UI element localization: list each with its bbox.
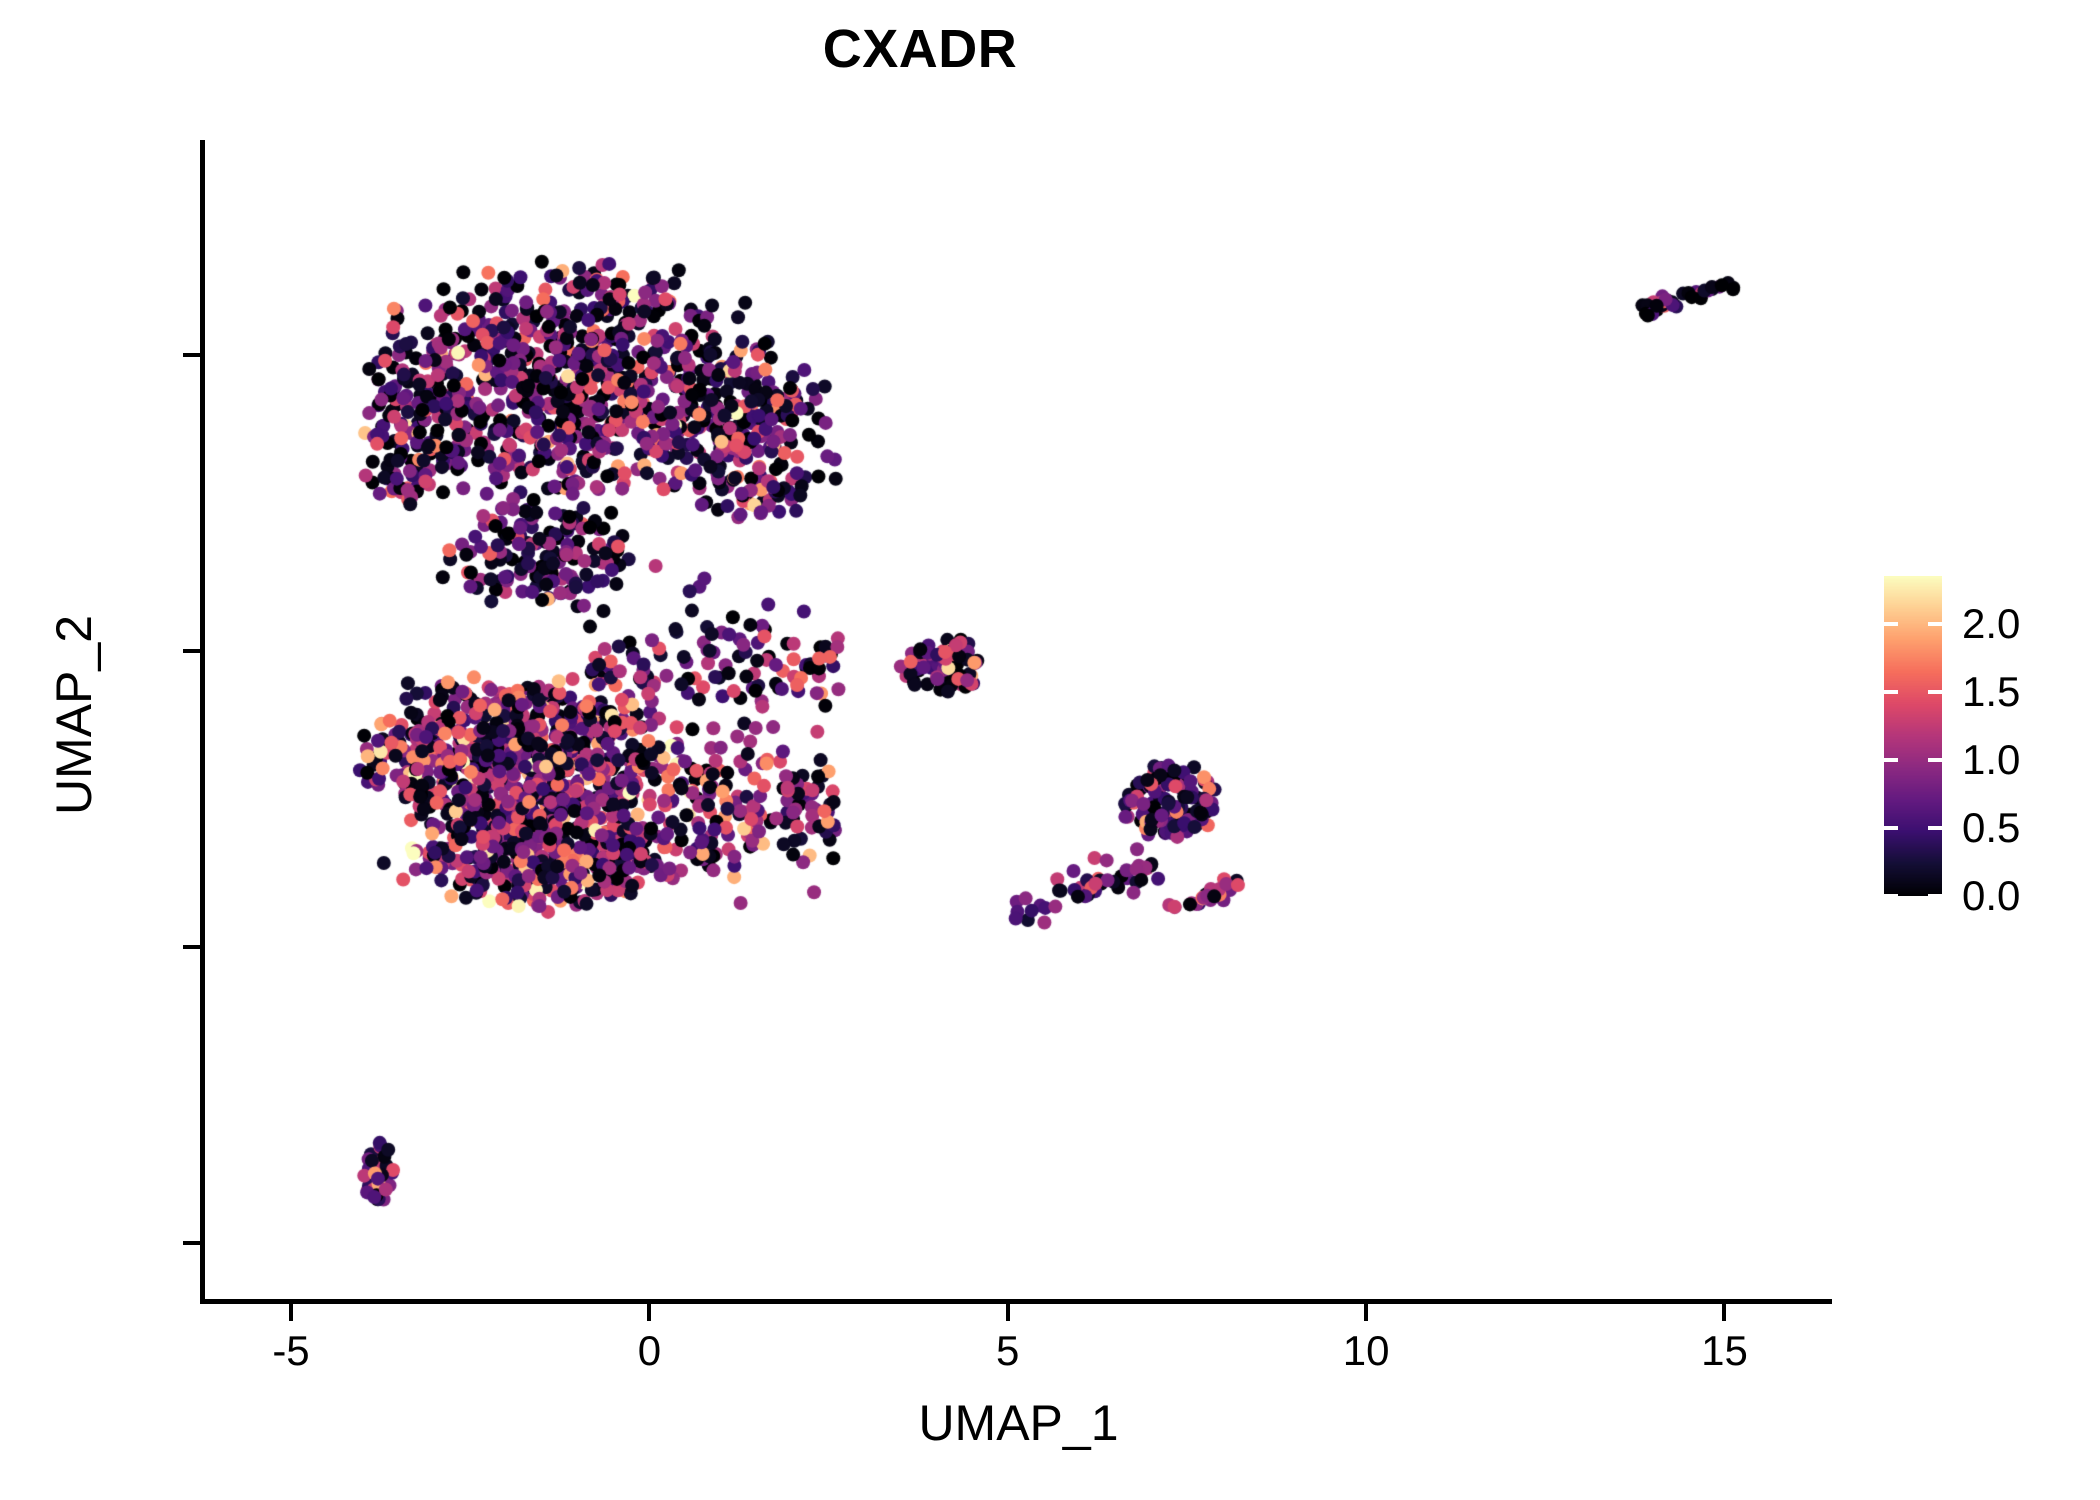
colorbar-tick-mark xyxy=(1928,826,1942,830)
y-axis-title: UMAP_2 xyxy=(49,365,99,1065)
colorbar-tick-label: 0.5 xyxy=(1962,807,2020,849)
colorbar-tick-mark xyxy=(1928,758,1942,762)
page-title: CXADR xyxy=(0,22,1840,76)
x-tick-mark xyxy=(1006,1304,1010,1321)
x-axis-line xyxy=(200,1299,1832,1304)
colorbar-tick-mark xyxy=(1884,622,1898,626)
colorbar-tick-mark xyxy=(1928,894,1942,898)
colorbar-tick-mark xyxy=(1884,690,1898,694)
colorbar-tick-label: 2.0 xyxy=(1962,603,2020,645)
colorbar-tick-label: 0.0 xyxy=(1962,875,2020,917)
colorbar-tick-mark xyxy=(1884,894,1898,898)
y-tick-mark xyxy=(183,353,200,357)
x-tick-mark xyxy=(647,1304,651,1321)
plot-panel xyxy=(205,142,1832,1302)
colorbar-tick-mark xyxy=(1928,622,1942,626)
y-axis-line xyxy=(200,140,205,1304)
x-tick-label: 0 xyxy=(569,1330,729,1372)
x-tick-mark xyxy=(1364,1304,1368,1321)
y-tick-mark xyxy=(183,649,200,653)
colorbar-legend: 2.01.51.00.50.0 xyxy=(1884,576,2084,900)
colorbar-tick-mark xyxy=(1928,690,1942,694)
x-tick-label: 5 xyxy=(928,1330,1088,1372)
feature-plot-figure: CXADR -50510 -5051015 UMAP_1 UMAP_2 2.01… xyxy=(0,0,2100,1500)
colorbar-tick-label: 1.0 xyxy=(1962,739,2020,781)
x-tick-mark xyxy=(1722,1304,1726,1321)
colorbar-tick-mark xyxy=(1884,758,1898,762)
scatter-plot-canvas xyxy=(205,142,1832,1302)
y-tick-mark xyxy=(183,945,200,949)
x-tick-label: 10 xyxy=(1286,1330,1446,1372)
y-tick-mark xyxy=(183,1241,200,1245)
x-tick-mark xyxy=(289,1304,293,1321)
x-axis-title: UMAP_1 xyxy=(205,1398,1832,1448)
colorbar-tick-label: 1.5 xyxy=(1962,671,2020,713)
x-tick-label: -5 xyxy=(211,1330,371,1372)
colorbar-tick-mark xyxy=(1884,826,1898,830)
x-tick-label: 15 xyxy=(1644,1330,1804,1372)
